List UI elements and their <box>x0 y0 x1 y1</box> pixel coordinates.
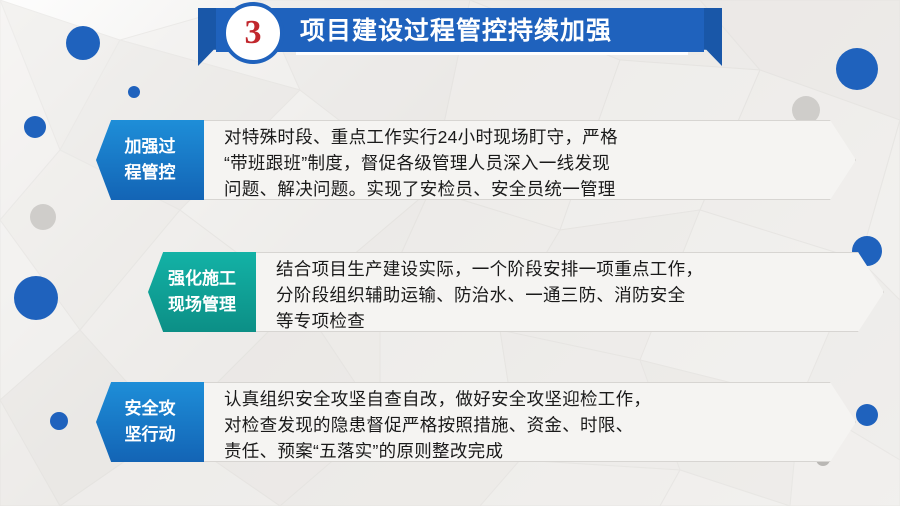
row-tag-1-line1: 加强过 <box>125 134 176 160</box>
decor-circle-6 <box>836 48 878 90</box>
content-text-3-line3: 责任、预案“五落实”的原则整改完成 <box>224 438 824 464</box>
content-text-3-line2: 对检查发现的隐患督促严格按照措施、资金、时限、 <box>224 412 824 438</box>
row-tag-2-line2: 现场管理 <box>168 292 236 318</box>
header-underline <box>296 52 688 55</box>
content-text-2: 结合项目生产建设实际，一个阶段安排一项重点工作， 分阶段组织辅助运输、防治水、一… <box>276 256 876 334</box>
content-text-1-line1: 对特殊时段、重点工作实行24小时现场盯守，严格 <box>224 124 824 150</box>
content-text-1: 对特殊时段、重点工作实行24小时现场盯守，严格 “带班跟班”制度，督促各级管理人… <box>224 124 824 202</box>
decor-circle-5 <box>50 412 68 430</box>
content-text-2-line3: 等专项检查 <box>276 308 876 334</box>
content-text-2-line1: 结合项目生产建设实际，一个阶段安排一项重点工作， <box>276 256 876 282</box>
row-tag-1-line2: 程管控 <box>125 160 176 186</box>
content-text-2-line2: 分阶段组织辅助运输、防治水、一通三防、消防安全 <box>276 282 876 308</box>
row-tag-3-line1: 安全攻 <box>125 396 176 422</box>
row-tag-1: 加强过 程管控 <box>96 120 204 200</box>
page-title: 项目建设过程管控持续加强 <box>300 14 710 48</box>
section-number: 3 <box>226 6 280 60</box>
decor-circle-1 <box>66 26 100 60</box>
decor-circle-7 <box>792 96 820 124</box>
decor-circle-9 <box>856 404 878 426</box>
slide-canvas: 3 项目建设过程管控持续加强 加强过 程管控 对特殊时段、重点工作实行24小时现… <box>0 0 900 506</box>
row-tag-2-line1: 强化施工 <box>168 266 236 292</box>
content-text-1-line3: 问题、解决问题。实现了安检员、安全员统一管理 <box>224 176 824 202</box>
decor-circle-2 <box>24 116 46 138</box>
row-tag-2: 强化施工 现场管理 <box>148 252 256 332</box>
content-text-3-line1: 认真组织安全攻坚自查自改，做好安全攻坚迎检工作， <box>224 386 824 412</box>
decor-circle-11 <box>128 86 140 98</box>
content-text-3: 认真组织安全攻坚自查自改，做好安全攻坚迎检工作， 对检查发现的隐患督促严格按照措… <box>224 386 824 464</box>
row-tag-3: 安全攻 坚行动 <box>96 382 204 462</box>
decor-circle-3 <box>30 204 56 230</box>
row-tag-3-line2: 坚行动 <box>125 422 176 448</box>
decor-circle-4 <box>14 276 58 320</box>
section-number-badge: 3 <box>222 2 284 64</box>
content-text-1-line2: “带班跟班”制度，督促各级管理人员深入一线发现 <box>224 150 824 176</box>
